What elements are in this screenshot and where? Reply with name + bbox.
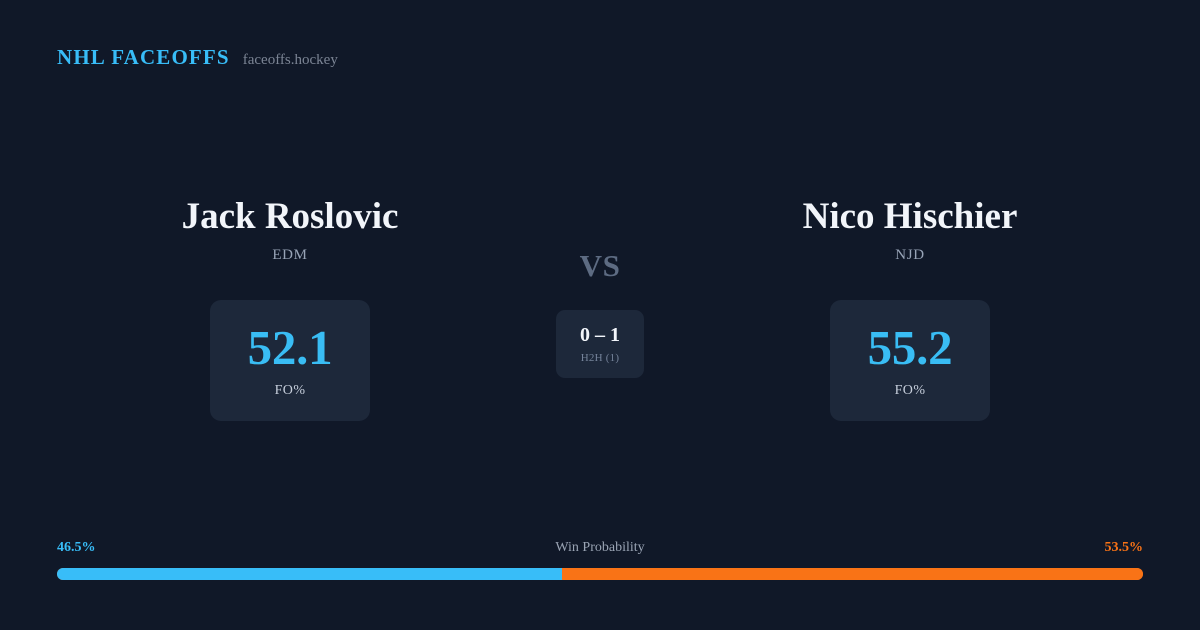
player-left-faceoff-pct-value: 52.1 [248, 323, 333, 372]
player-left-team: EDM [90, 248, 490, 263]
versus-block: VS [500, 250, 700, 281]
win-probability-bar-left-fill [57, 568, 562, 580]
head-to-head-label: H2H (1) [581, 353, 620, 364]
versus-label: VS [500, 250, 700, 281]
player-left-faceoff-pct-label: FO% [275, 384, 306, 398]
player-right-faceoff-pct-label: FO% [895, 384, 926, 398]
nhl-faceoffs-matchup-card: { "header": { "brand": "NHL FACEOFFS", "… [0, 0, 1200, 630]
player-right-name: Nico Hischier [710, 198, 1110, 237]
player-right-faceoff-pct-value: 55.2 [868, 323, 953, 372]
matchup-section: Jack Roslovic EDM 52.1 FO% VS 0 – 1 H2H … [0, 0, 1200, 630]
head-to-head-score: 0 – 1 [580, 325, 620, 345]
win-probability-bar [57, 568, 1143, 580]
player-left-name: Jack Roslovic [90, 198, 490, 237]
win-probability-section: 46.5% Win Probability 53.5% [57, 540, 1143, 580]
win-probability-bar-right-fill [562, 568, 1143, 580]
player-right: Nico Hischier NJD [710, 198, 1110, 263]
player-right-stat-card: 55.2 FO% [830, 300, 990, 421]
win-probability-right-value: 53.5% [1105, 540, 1144, 557]
player-left: Jack Roslovic EDM [90, 198, 490, 263]
player-left-stat-card: 52.1 FO% [210, 300, 370, 421]
player-right-team: NJD [710, 248, 1110, 263]
head-to-head-card: 0 – 1 H2H (1) [556, 310, 644, 378]
win-probability-labels: 46.5% Win Probability 53.5% [57, 540, 1143, 558]
win-probability-title: Win Probability [57, 540, 1143, 557]
